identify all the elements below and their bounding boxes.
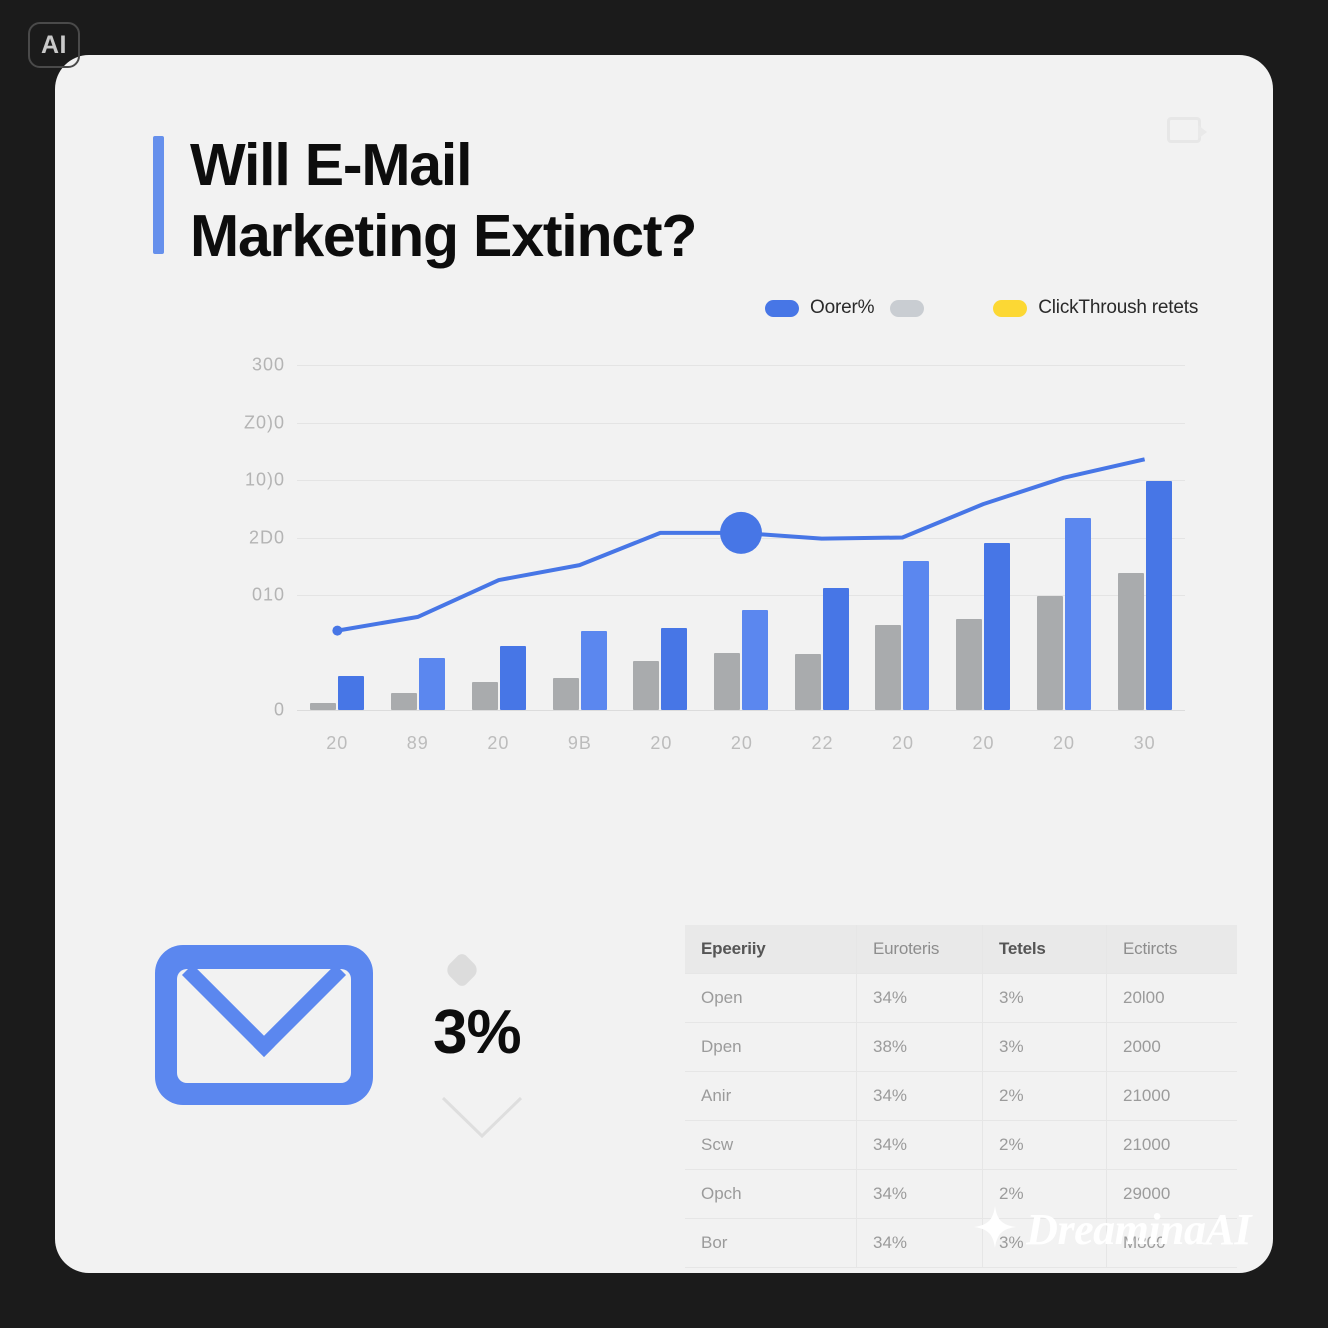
axis-baseline xyxy=(297,710,1185,711)
table-cell: 20l00 xyxy=(1107,974,1237,1022)
x-axis-tick: 20 xyxy=(892,733,914,754)
envelope-flap xyxy=(182,969,346,1057)
table-header: EpeeriiyEuroterisTetelsEctircts xyxy=(685,925,1237,973)
table-row[interactable]: Anir34%2%21000 xyxy=(685,1072,1237,1121)
table-cell: Open xyxy=(685,974,857,1022)
table-column-header[interactable]: Tetels xyxy=(983,925,1107,973)
y-axis-tick: 010 xyxy=(252,585,285,606)
line-highlight-dot[interactable] xyxy=(720,512,762,554)
table-row[interactable]: Dpen38%3%2000 xyxy=(685,1023,1237,1072)
watermark: DreaminaAI xyxy=(972,1204,1251,1255)
legend-swatch-blue xyxy=(765,300,799,317)
ghost-image-icon xyxy=(1167,117,1201,143)
stat-value: 3% xyxy=(433,997,623,1068)
x-axis-tick: 20 xyxy=(326,733,348,754)
legend-swatch-gray xyxy=(890,300,924,317)
legend-swatch-yellow xyxy=(993,300,1027,317)
y-axis-labels: 300Z0)010)02D00100 xyxy=(185,365,285,710)
table-cell: 34% xyxy=(857,1219,983,1267)
y-axis-tick: 10)0 xyxy=(245,470,285,491)
envelope-icon xyxy=(155,945,373,1105)
table-column-header[interactable]: Ectircts xyxy=(1107,925,1237,973)
table-row[interactable]: Open34%3%20l00 xyxy=(685,973,1237,1023)
watermark-text: DreaminaAI xyxy=(1026,1204,1251,1255)
x-axis-tick: 30 xyxy=(1134,733,1156,754)
header: Will E-Mail Marketing Extinct? xyxy=(153,130,696,272)
x-axis-tick: 20 xyxy=(487,733,509,754)
table-cell: 2% xyxy=(983,1072,1107,1120)
table-cell: Dpen xyxy=(685,1023,857,1071)
table-cell: 3% xyxy=(983,974,1107,1022)
sparkle-star-icon xyxy=(972,1204,1018,1255)
table-cell: 21000 xyxy=(1107,1121,1237,1169)
x-axis-tick: 22 xyxy=(811,733,833,754)
table-cell: 2% xyxy=(983,1121,1107,1169)
table-cell: Scw xyxy=(685,1121,857,1169)
table-cell: Bor xyxy=(685,1219,857,1267)
stat-block: 3% xyxy=(155,945,623,1140)
x-axis-tick: 20 xyxy=(1053,733,1075,754)
table-cell: 38% xyxy=(857,1023,983,1071)
bar-line-chart: 300Z0)010)02D00100 2089209B2020222020203… xyxy=(185,365,1185,765)
legend-item-unlabeled[interactable] xyxy=(890,300,935,317)
y-axis-tick: Z0)0 xyxy=(244,412,285,433)
table-row[interactable]: Scw34%2%21000 xyxy=(685,1121,1237,1170)
envelope-body xyxy=(177,969,351,1083)
legend-item-click-through[interactable]: ClickThroush retets xyxy=(993,297,1198,319)
stat-side: 3% xyxy=(433,945,623,1140)
table-column-header[interactable]: Epeeriiy xyxy=(685,925,857,973)
y-axis-tick: 300 xyxy=(252,355,285,376)
table-cell: 3% xyxy=(983,1023,1107,1071)
table-header-row: EpeeriiyEuroterisTetelsEctircts xyxy=(685,925,1237,973)
x-axis-tick: 89 xyxy=(407,733,429,754)
diamond-marker xyxy=(444,952,481,989)
table-cell: 34% xyxy=(857,1170,983,1218)
table-cell: 34% xyxy=(857,974,983,1022)
x-axis-tick: 20 xyxy=(731,733,753,754)
legend-label-click-through: ClickThroush retets xyxy=(1038,297,1198,319)
table-cell: 21000 xyxy=(1107,1072,1237,1120)
chart-legend: Oorer% ClickThroush retets xyxy=(765,297,1198,319)
y-axis-tick: 2D0 xyxy=(249,527,285,548)
legend-label-open-rate: Oorer% xyxy=(810,297,874,319)
line-start-dot xyxy=(332,626,342,636)
trend-line-overlay xyxy=(297,365,1185,710)
chevron-down-icon xyxy=(439,1094,525,1140)
x-axis-tick: 20 xyxy=(650,733,672,754)
page-title: Will E-Mail Marketing Extinct? xyxy=(190,130,696,272)
table-cell: Opch xyxy=(685,1170,857,1218)
table-cell: 34% xyxy=(857,1072,983,1120)
table-cell: 34% xyxy=(857,1121,983,1169)
infographic-card: Will E-Mail Marketing Extinct? Oorer% Cl… xyxy=(55,55,1273,1273)
plot-area xyxy=(297,365,1185,710)
ai-badge: AI xyxy=(28,22,80,68)
table-cell: Anir xyxy=(685,1072,857,1120)
legend-item-open-rate[interactable]: Oorer% xyxy=(765,297,874,319)
table-column-header[interactable]: Euroteris xyxy=(857,925,983,973)
table-cell: 2000 xyxy=(1107,1023,1237,1071)
ai-badge-label: AI xyxy=(41,31,67,60)
x-axis-labels: 2089209B20202220202030 xyxy=(297,733,1185,754)
x-axis-tick: 9B xyxy=(568,733,592,754)
y-axis-tick: 0 xyxy=(274,700,285,721)
title-accent-bar xyxy=(153,136,164,254)
x-axis-tick: 20 xyxy=(973,733,995,754)
